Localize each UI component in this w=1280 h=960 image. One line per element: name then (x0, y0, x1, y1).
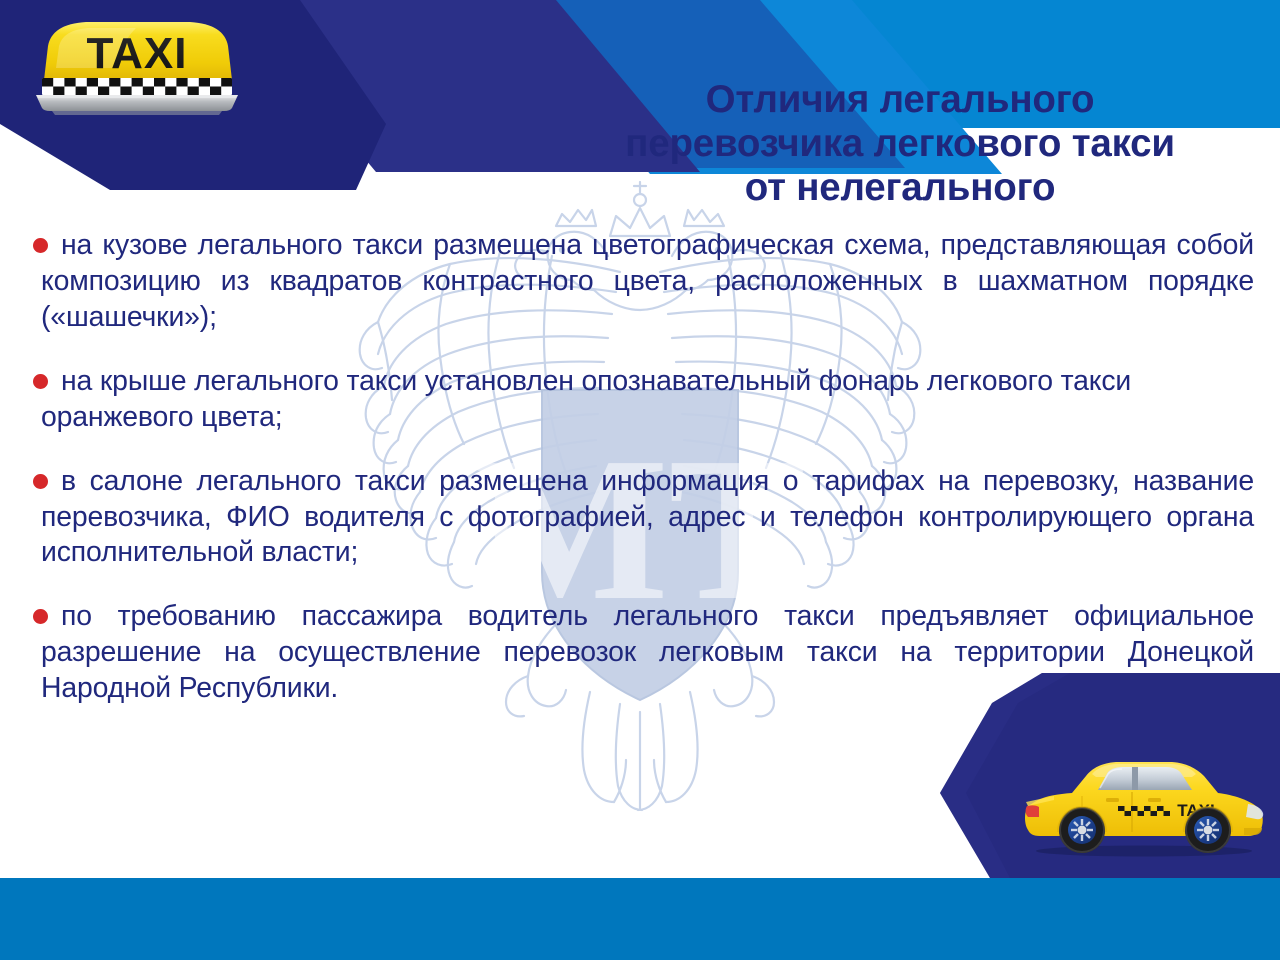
list-item-text: на кузове легального такси размещена цве… (33, 228, 1254, 336)
list-item-text: на крыше легального такси установлен опо… (33, 364, 1254, 436)
bullet-dot-icon (33, 474, 48, 489)
taxi-car-illustration: TAXI (1020, 744, 1268, 862)
list-item: на кузове легального такси размещена цве… (0, 228, 1280, 336)
taxi-sign-text: TAXI (87, 29, 188, 78)
bullet-dot-icon (33, 374, 48, 389)
list-item: в салоне легального такси размещена инфо… (0, 464, 1280, 572)
bullet-dot-icon (33, 238, 48, 253)
slide-canvas: TAXI (0, 0, 1280, 960)
list-item-text: в салоне легального такси размещена инфо… (33, 464, 1254, 572)
footer-bar (0, 878, 1280, 960)
taxi-roof-sign-icon: TAXI (26, 16, 248, 116)
list-item: по требованию пассажира водитель легальн… (0, 599, 1280, 707)
page-title: Отличия легального перевозчика легкового… (530, 78, 1270, 210)
checker-band-icon (42, 78, 232, 95)
slide-title: Отличия легального перевозчика легкового… (530, 78, 1270, 210)
list-item: на крыше легального такси установлен опо… (0, 364, 1280, 436)
list-item-text: по требованию пассажира водитель легальн… (33, 599, 1254, 707)
bullet-list: на кузове легального такси размещена цве… (0, 228, 1280, 707)
